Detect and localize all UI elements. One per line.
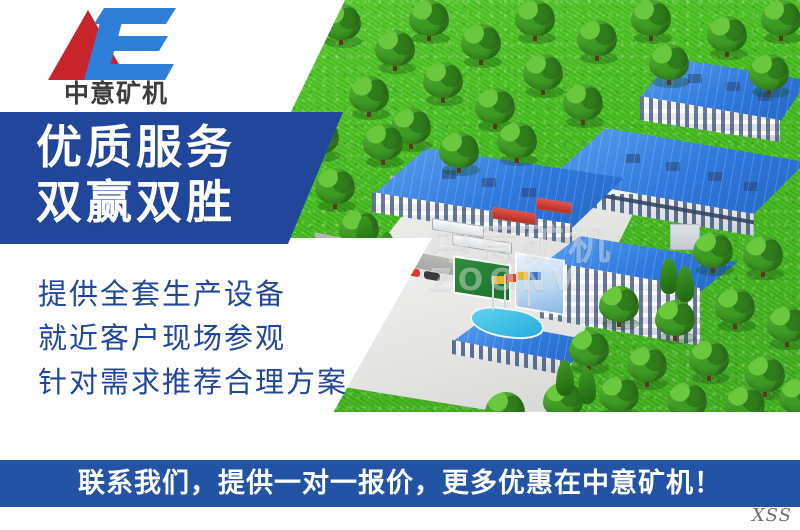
list-item: 针对需求推荐合理方案 [38,360,378,404]
headline-line-1: 优质服务 [36,120,336,175]
billboard-product [517,254,563,313]
tree [406,0,452,46]
flagpole [528,272,530,306]
call-to-action-text: 联系我们，提供一对一报价，更多优惠在中意矿机！ [78,469,722,499]
logo-mark-ae-icon [46,6,186,80]
corner-watermark: XSS [752,505,792,526]
tree [346,76,392,122]
tree [740,236,786,282]
headline-line-2: 双赢双胜 [36,175,336,230]
tree [764,306,800,352]
flagpole [504,274,506,308]
white-panel-bottom [0,412,800,462]
conifer-tree [556,360,574,400]
tree [704,16,750,62]
tree [560,84,606,130]
tree [690,232,736,278]
tree [458,24,504,70]
tree [436,132,482,178]
tree [776,378,800,415]
tree [596,376,642,415]
tree [494,122,540,168]
tree [758,0,800,46]
benefit-list: 提供全套生产设备 就近客户现场参观 针对需求推荐合理方案 [38,272,378,404]
call-to-action-bar[interactable]: 联系我们，提供一对一报价，更多优惠在中意矿机！ [0,460,800,507]
tree [512,0,558,46]
tree [712,288,758,334]
list-item: 提供全套生产设备 [38,272,378,316]
tree [746,54,792,100]
tree [628,0,674,46]
tree [574,20,620,66]
company-logo[interactable]: 中意矿机 [46,6,186,110]
conifer-tree [578,368,596,408]
tree [686,340,732,386]
tree [360,124,406,170]
tree [664,382,710,415]
tree [646,44,692,90]
conifer-tree [676,266,694,306]
flagpole [492,276,494,310]
tree [722,386,768,415]
flagpole [516,272,518,306]
promotional-banner: 中意矿机 ZOONV 中意矿机 优质服务 双赢双胜 提供全套生产设备 就近客户现… [0,0,800,530]
list-item: 就近客户现场参观 [38,316,378,360]
logo-company-name: 中意矿机 [46,80,186,108]
tree [596,286,642,332]
headline: 优质服务 双赢双胜 [36,120,336,230]
